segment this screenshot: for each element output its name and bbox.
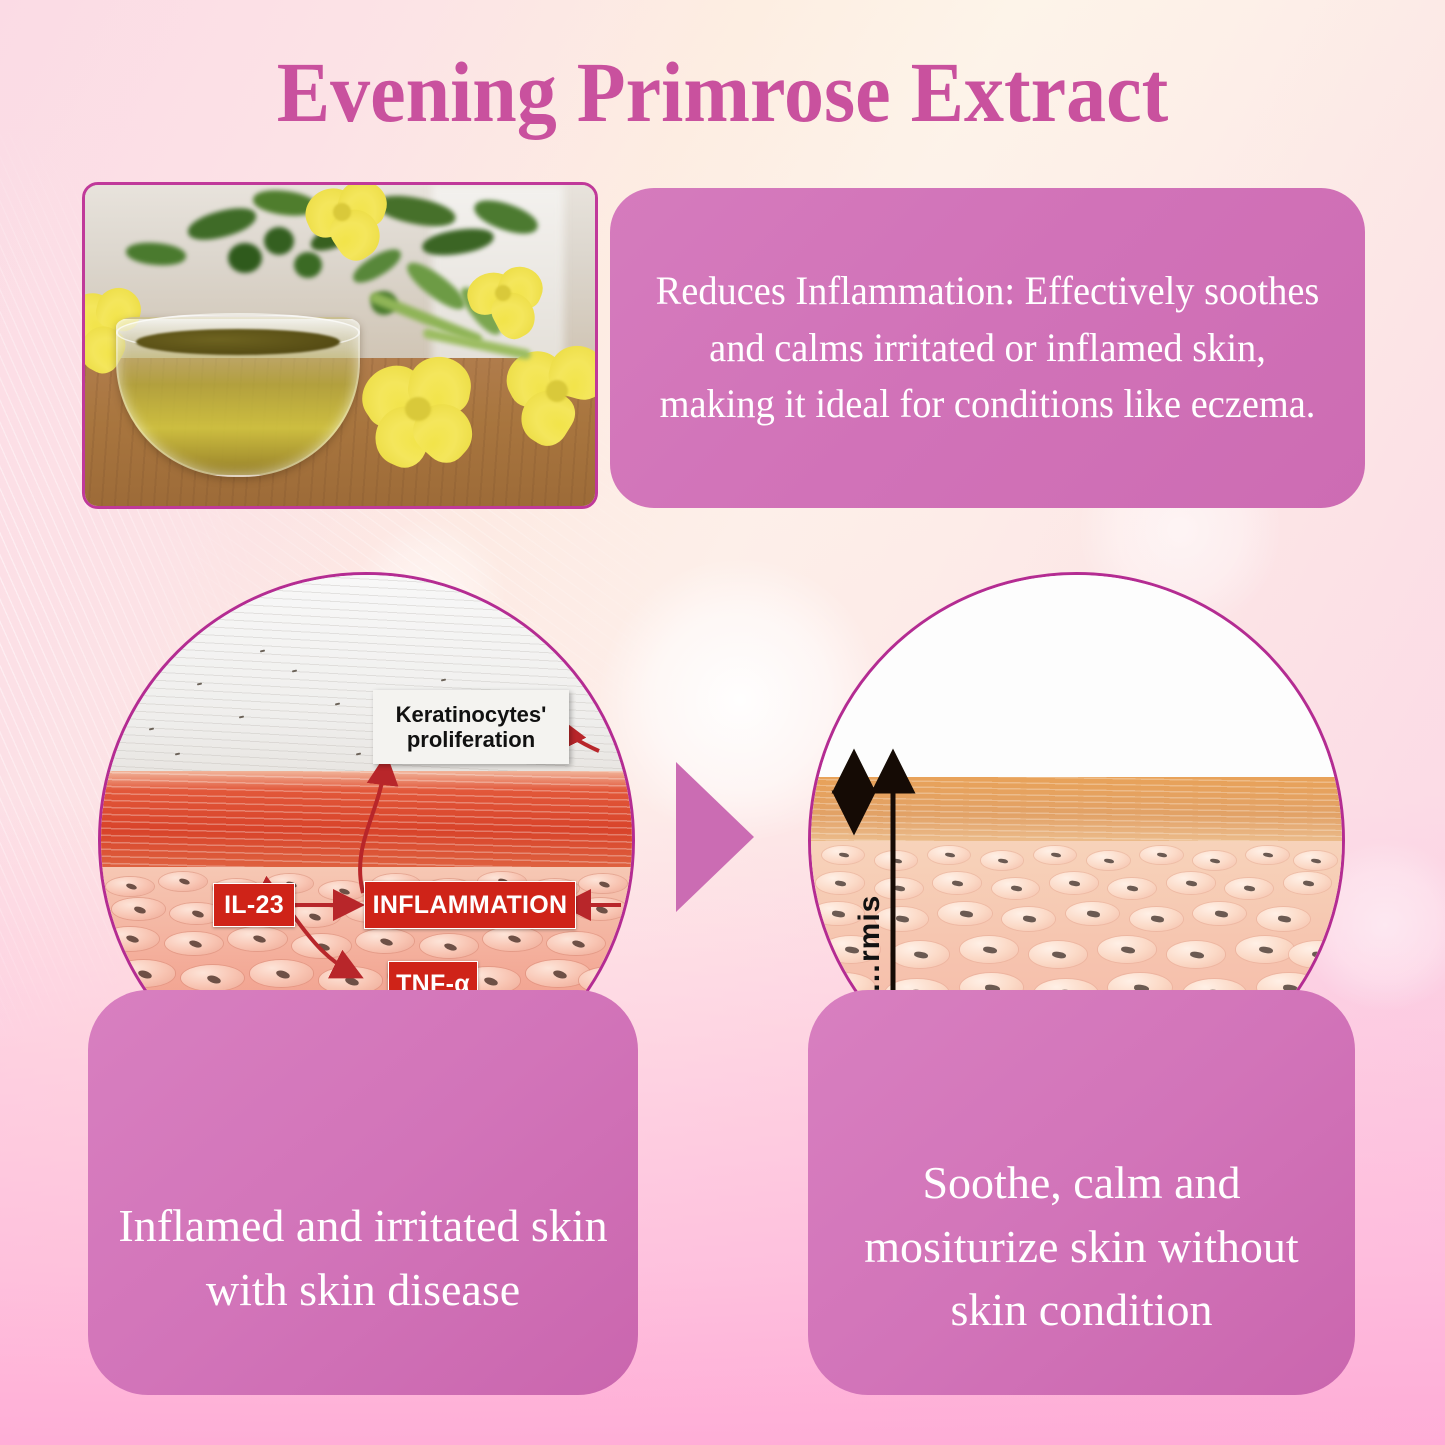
primrose-oil-photo	[82, 182, 598, 509]
caption-after-text: Soothe, calm and mositurize skin without…	[828, 1043, 1335, 1341]
caption-panel-before: Inflamed and irritated skin with skin di…	[88, 990, 638, 1395]
label-keratinocytes-proliferation: Keratinocytes' proliferation	[373, 690, 569, 764]
label-inflammation: INFLAMMATION	[364, 881, 576, 929]
label-epidermis-partial: …rmis	[853, 823, 887, 993]
caption-before-text: Inflamed and irritated skin with skin di…	[108, 1064, 618, 1321]
caption-panel-after: Soothe, calm and mositurize skin without…	[808, 990, 1355, 1395]
triangle-right-icon	[676, 762, 754, 912]
oil-surface	[136, 329, 340, 355]
page-title: Evening Primrose Extract	[51, 42, 1395, 142]
label-il23: IL-23	[213, 883, 295, 927]
poster-canvas: Evening Primrose Extract	[0, 0, 1445, 1445]
benefit-text: Reduces Inflammation: Effectively soothe…	[654, 263, 1321, 433]
benefit-panel: Reduces Inflammation: Effectively soothe…	[610, 188, 1365, 508]
